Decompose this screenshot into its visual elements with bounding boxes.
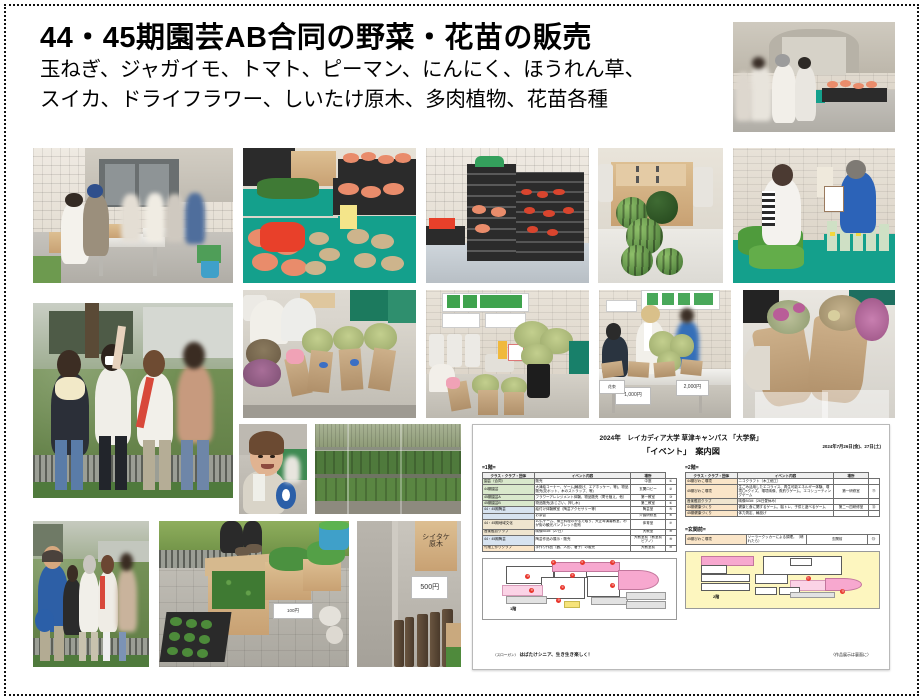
cell-content: 10ムゲーム、郷土料理のかるた取り、大正琴演奏教室、わが街の観光パンフレット配布 xyxy=(534,519,631,529)
cell-content: ソーラークッカーによる調理。（晴れたら） xyxy=(746,535,807,545)
photo-members-lineup xyxy=(33,521,149,667)
photo-flower-corner-sign xyxy=(426,290,589,418)
price-sign-100: 100円 xyxy=(273,603,313,620)
cell-place: 大教室前（教室前ピアノ） xyxy=(631,535,665,545)
flyer-header-date: 2024年7月26日(金)、27日(土) xyxy=(822,444,881,450)
shiitake-label: シイタケ原木 xyxy=(417,525,454,557)
cell-club: 45期健康づくり xyxy=(686,511,738,517)
table-row: 45期健康づくり体力測定、輪投げ xyxy=(686,511,880,517)
flyer-note: 〈作品展示は裏面に〉 xyxy=(831,652,871,658)
cell-content: 大津絵コーナー、ゲーム(輪投げ、エアホッケー、等)、物品販売(花ポット、木のスト… xyxy=(534,485,631,495)
table-row: 44期園芸大津絵コーナー、ゲーム(輪投げ、エアホッケー、等)、物品販売(花ポット… xyxy=(483,485,677,495)
cell-number: ⑬ xyxy=(868,535,880,545)
cell-number xyxy=(868,511,880,517)
floor2-map: ⑫ ⑪ 2階 xyxy=(685,551,880,609)
photo-seedling-nursery xyxy=(315,424,461,514)
flyer-floor1-column: =1階= クラス・クラブ・団体 イベント内容 場所 園芸（合同）販売中庭①44期… xyxy=(482,461,677,620)
cell-content: 体力測定、輪投げ xyxy=(737,511,834,517)
price-sign-left: 花束 xyxy=(599,380,625,395)
price-sign-2000: 2,000円 xyxy=(676,380,710,396)
floor1-map: ② ③ ④ ⑩ ⑦ ① ⑤ ⑧ ⑨ 1階 xyxy=(482,558,677,620)
table-row: 竹細工作りクラブ手作り作品（器、人形、箸子）の販売大教室前⑩ xyxy=(483,545,677,551)
price-sign-500: 500円 xyxy=(411,576,448,598)
cell-place: 玄関ロビー xyxy=(631,485,665,495)
cell-club: 竹細工作りクラブ xyxy=(483,545,535,551)
floor1-table: クラス・クラブ・団体 イベント内容 場所 園芸（合同）販売中庭①44期園芸大津絵… xyxy=(482,472,677,552)
floor2-label: =2階= xyxy=(685,464,880,471)
cell-club: 44・45期地域文化 xyxy=(483,519,535,529)
photo-shiitake-logs: シイタケ原木 500円 xyxy=(357,521,461,667)
cell-content: 陶芸作品の展示・販売 xyxy=(534,535,631,545)
cell-number: ⑦ xyxy=(665,519,677,529)
slogan-tag: 〈スローガン〉 xyxy=(493,653,518,657)
map1-floor-label: 1階 xyxy=(510,606,516,612)
flyer-header-title: 2024年 レイカディア大学 草津キャンパス 「大学祭」 xyxy=(473,432,889,442)
cell-club: 44・45期陶芸 xyxy=(483,535,535,545)
cell-content: 手作り作品（器、人形、箸子）の販売 xyxy=(534,545,631,551)
cell-place xyxy=(834,511,868,517)
floor2-table: クラス・クラブ・団体 イベント内容 場所 44期びわこ環境ニコクラフト（木工細工… xyxy=(685,472,880,517)
floor1-label: =1階= xyxy=(482,464,677,471)
table-row: 44・45期地域文化10ムゲーム、郷土料理のかるた取り、大正琴演奏教室、わが街の… xyxy=(483,519,677,529)
photo-market-stall-setup xyxy=(33,148,233,283)
cell-number: ⑪ xyxy=(868,485,880,499)
photo-smiling-member xyxy=(239,424,307,514)
cell-number: ② xyxy=(665,485,677,495)
entrance-label: =玄関前= xyxy=(685,526,880,533)
cell-club: 45期びわこ環境 xyxy=(686,535,747,545)
table-row: 45期びわこ環境生ごみ活用したエコライス、再生可能エネルギー体験、環境〇×クイズ… xyxy=(686,485,880,499)
cell-place: 体育室 xyxy=(631,519,665,529)
subtitle-line-1: 玉ねぎ、ジャガイモ、トマト、ピーマン、にんにく、ほうれん草、 xyxy=(40,57,720,84)
cell-number: ⑨ xyxy=(665,535,677,545)
cell-place: 玄関前 xyxy=(807,535,868,545)
cell-number: ⑩ xyxy=(665,545,677,551)
photo-dried-bouquet-closeup xyxy=(743,290,895,418)
table-row: 44・45期陶芸陶芸作品の展示・販売大教室前（教室前ピアノ）⑨ xyxy=(483,535,677,545)
flyer-slogan: 〈スローガン〉 はばたけシニア、生き生き楽しく！ xyxy=(493,652,592,658)
table-row: 45期びわこ環境ソーラークッカーによる調理。（晴れたら）玄関前⑬ xyxy=(686,535,880,545)
flyer-page: 44・45期園芸AB合同の野菜・花苗の販売 玉ねぎ、ジャガイモ、トマト、ピーマン… xyxy=(0,0,923,700)
photo-vegetable-sales-counter xyxy=(733,148,895,283)
entrance-table: 45期びわこ環境ソーラークッカーによる調理。（晴れたら）玄関前⑬ xyxy=(685,534,880,545)
photo-dried-flower-table xyxy=(243,290,416,418)
photo-tomato-crate-stack xyxy=(426,148,589,283)
photo-volunteer-group-garden xyxy=(33,303,233,498)
cell-place: 大教室前 xyxy=(631,545,665,551)
map2-floor-label: 2階 xyxy=(713,594,719,600)
photo-watermelons-box xyxy=(598,148,723,283)
cell-content: 生ごみ活用したエコライス、再生可能エネルギー体験、環境〇×クイズ、環境映像、魚釣… xyxy=(737,485,834,499)
cell-club: 44期園芸 xyxy=(483,485,535,495)
event-guide-flyer: 2024年 レイカディア大学 草津キャンパス 「大学祭」 「イベント」 案内図 … xyxy=(472,424,890,670)
photo-onion-potato-crates xyxy=(243,148,416,283)
photo-flower-price-table: 1,000円 2,000円 花束 xyxy=(599,290,731,418)
cell-place: 第一研修室 xyxy=(834,485,868,499)
photo-seedling-boxes: 100円 xyxy=(159,521,349,667)
page-title: 44・45期園芸AB合同の野菜・花苗の販売 xyxy=(40,22,720,54)
subtitle-line-2: スイカ、ドライフラワー、しいたけ原木、多肉植物、花苗各種 xyxy=(40,87,720,114)
flyer-floor2-column: =2階= クラス・クラブ・団体 イベント内容 場所 44期びわこ環境ニコクラフト… xyxy=(685,461,880,620)
heading-block: 44・45期園芸AB合同の野菜・花苗の販売 玉ねぎ、ジャガイモ、トマト、ピーマン… xyxy=(40,22,720,114)
cell-club: 45期びわこ環境 xyxy=(686,485,738,499)
photo-corridor-customers xyxy=(733,22,895,132)
slogan-text: はばたけシニア、生き生き楽しく！ xyxy=(519,652,592,657)
